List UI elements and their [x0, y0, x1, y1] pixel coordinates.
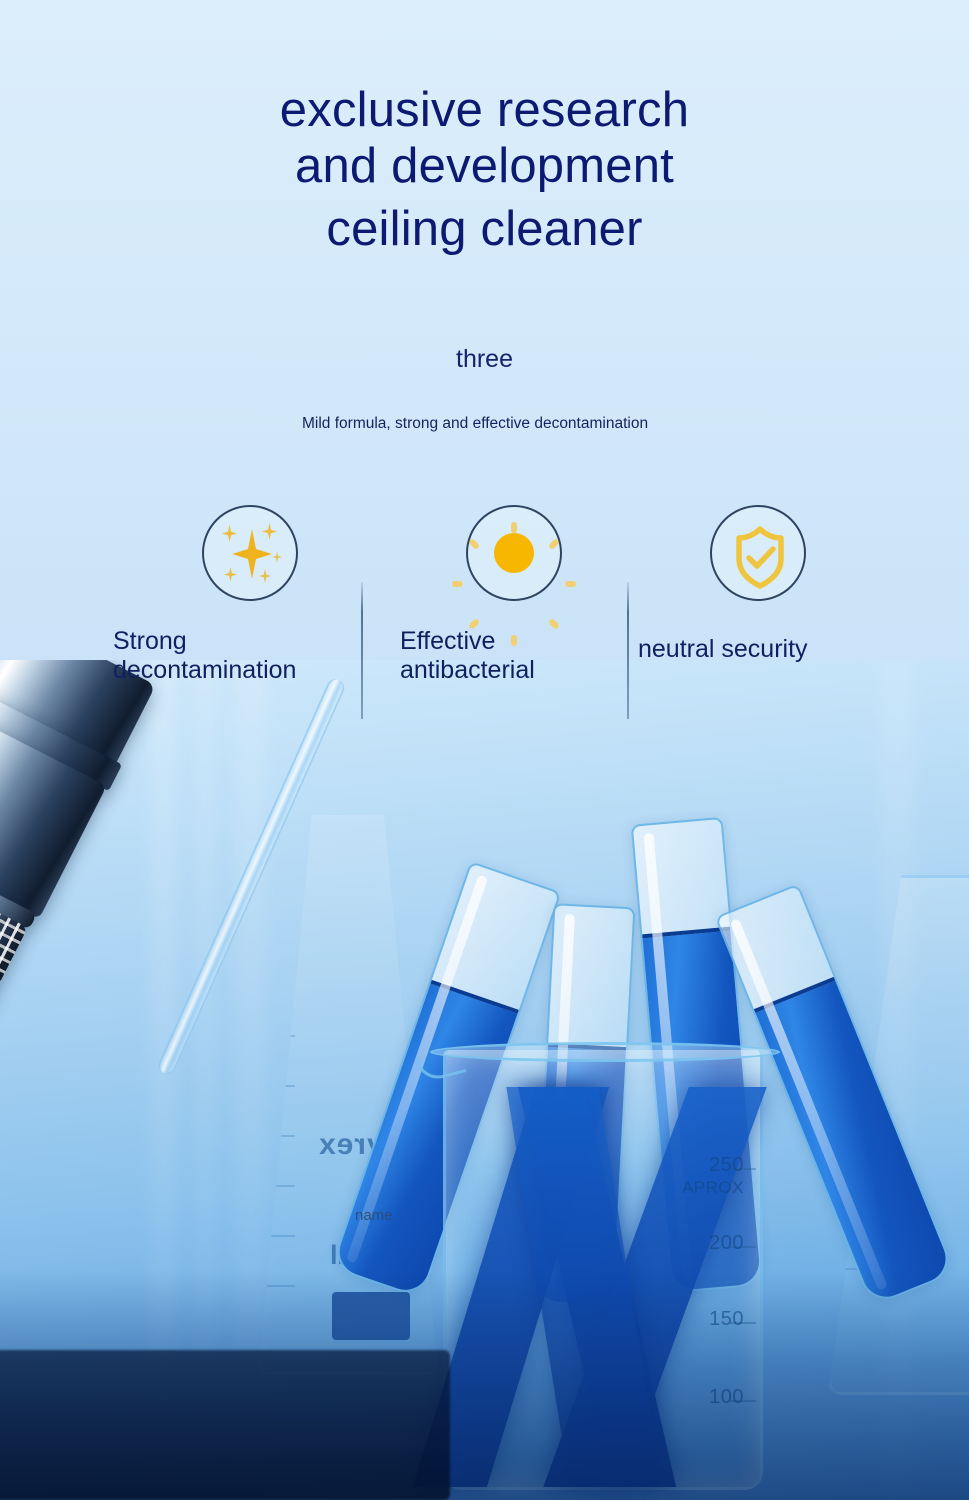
headline-line-3: ceiling cleaner — [0, 201, 969, 257]
image-watermark: name — [355, 1207, 393, 1224]
product-banner: Pyrex 250ml — [0, 0, 969, 1500]
feature-label: neutral security — [638, 635, 918, 664]
beaker-graduation: 200 — [709, 1232, 744, 1255]
feature-list: Strong decontamination Effective antibac… — [0, 505, 969, 735]
headline-line-1: exclusive research — [280, 83, 689, 137]
tagline-text: Mild formula, strong and effective decon… — [302, 414, 722, 434]
beaker-graduation: 250 — [709, 1154, 744, 1177]
feature-label: Effective antibacterial — [400, 627, 650, 685]
shield-check-glyph — [712, 507, 808, 603]
page-title: exclusive research and development ceili… — [0, 82, 969, 257]
sun-icon — [466, 505, 562, 601]
laboratory-photo: Pyrex 250ml — [0, 660, 969, 1500]
feature-count-label: three — [0, 345, 969, 374]
headline-line-2: and development — [0, 138, 969, 194]
shield-check-icon — [710, 505, 806, 601]
beaker-graduation: APROX — [682, 1178, 744, 1198]
feature-item-neutral-security[interactable]: neutral security — [658, 505, 858, 601]
feature-item-strong-decontamination[interactable]: Strong decontamination — [150, 505, 350, 601]
feature-item-effective-antibacterial[interactable]: Effective antibacterial — [414, 505, 614, 601]
beaker-rim — [430, 1042, 780, 1062]
dark-table-slab — [0, 1350, 450, 1500]
feature-label: Strong decontamination — [113, 627, 393, 685]
sparkle-icon — [202, 505, 298, 601]
